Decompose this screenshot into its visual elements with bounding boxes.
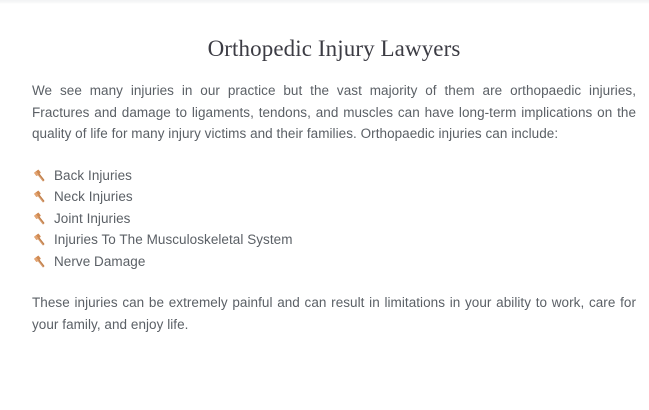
list-item-label: Joint Injuries [54, 211, 131, 226]
gavel-icon [33, 233, 47, 247]
injury-type-list: Back Injuries Neck Injuries [32, 145, 636, 273]
list-item: Joint Injuries [32, 208, 636, 230]
intro-paragraph: We see many injuries in our practice but… [32, 63, 636, 145]
list-item: Injuries To The Musculoskeletal System [32, 229, 636, 251]
article-page: Orthopedic Injury Lawyers We see many in… [0, 0, 649, 410]
list-item: Nerve Damage [32, 251, 636, 273]
gavel-icon [33, 169, 47, 183]
closing-paragraph: These injuries can be extremely painful … [32, 272, 636, 335]
article-content: Orthopedic Injury Lawyers We see many in… [32, 0, 636, 335]
gavel-icon [33, 255, 47, 269]
list-item-label: Back Injuries [54, 168, 132, 183]
gavel-icon [33, 212, 47, 226]
page-title: Orthopedic Injury Lawyers [32, 0, 636, 63]
gavel-icon [33, 190, 47, 204]
list-item: Back Injuries [32, 165, 636, 187]
list-item-label: Neck Injuries [54, 189, 133, 204]
list-item-label: Nerve Damage [54, 254, 145, 269]
list-item: Neck Injuries [32, 186, 636, 208]
list-item-label: Injuries To The Musculoskeletal System [54, 232, 293, 247]
